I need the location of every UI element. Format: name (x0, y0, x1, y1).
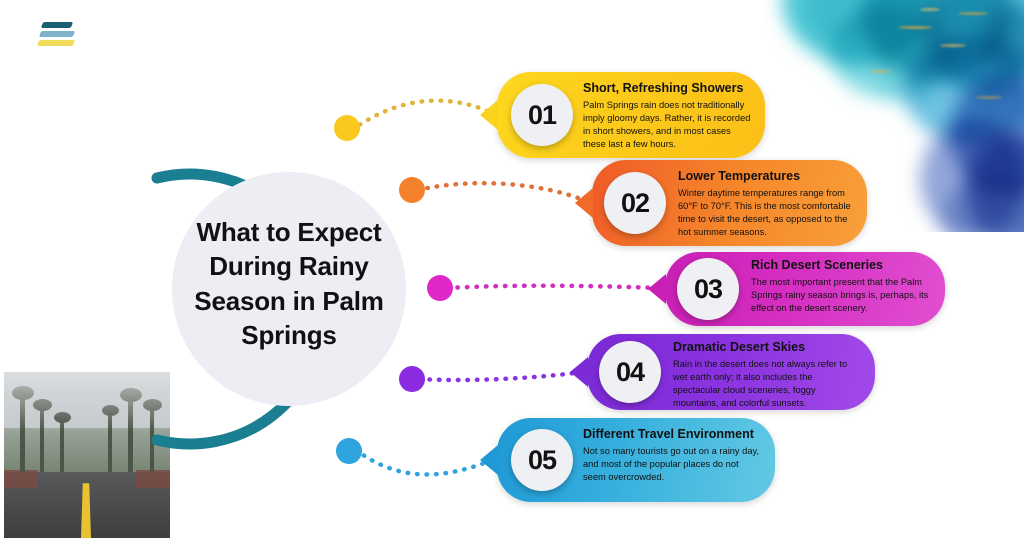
step-card-02[interactable]: 02 Lower Temperatures Winter daytime tem… (592, 160, 867, 246)
card-text-03: The most important present that the Palm… (751, 276, 931, 316)
step-card-04[interactable]: 04 Dramatic Desert Skies Rain in the des… (587, 334, 875, 410)
ring-node-01[interactable] (334, 115, 360, 141)
step-number-02: 02 (604, 172, 666, 234)
infographic-canvas: What to Expect During Rainy Season in Pa… (0, 0, 1024, 538)
step-card-01[interactable]: 01 Short, Refreshing Showers Palm Spring… (497, 72, 765, 158)
page-title-line-2: During Rainy (160, 249, 418, 283)
card-pointer-05 (480, 445, 498, 475)
card-text-01: Palm Springs rain does not traditionally… (583, 99, 751, 152)
connector-04 (420, 372, 582, 380)
connector-02 (418, 183, 586, 201)
connector-03 (448, 286, 660, 288)
page-title-line-4: Springs (160, 318, 418, 352)
card-text-04: Rain in the desert does not always refer… (673, 358, 861, 411)
step-number-05: 05 (511, 429, 573, 491)
step-card-03[interactable]: 03 Rich Desert Sceneries The most import… (665, 252, 945, 326)
ring-node-05[interactable] (336, 438, 362, 464)
card-pointer-01 (480, 100, 498, 130)
step-number-04: 04 (599, 341, 661, 403)
card-body-01: Short, Refreshing Showers Palm Springs r… (583, 81, 751, 149)
card-title-03: Rich Desert Sceneries (751, 258, 931, 274)
connector-05 (356, 450, 492, 475)
card-body-05: Different Travel Environment Not so many… (583, 427, 761, 493)
card-pointer-02 (575, 188, 593, 218)
connector-01 (352, 101, 492, 130)
card-text-02: Winter daytime temperatures range from 6… (678, 187, 853, 240)
step-number-03: 03 (677, 258, 739, 320)
card-title-02: Lower Temperatures (678, 169, 853, 185)
card-title-05: Different Travel Environment (583, 427, 761, 443)
card-body-04: Dramatic Desert Skies Rain in the desert… (673, 340, 861, 404)
page-title-line-1: What to Expect (160, 215, 418, 249)
card-title-04: Dramatic Desert Skies (673, 340, 861, 356)
step-number-01: 01 (511, 84, 573, 146)
step-card-05[interactable]: 05 Different Travel Environment Not so m… (497, 418, 775, 502)
ring-node-02[interactable] (399, 177, 425, 203)
card-body-03: Rich Desert Sceneries The most important… (751, 258, 931, 320)
ring-node-04[interactable] (399, 366, 425, 392)
ring-node-03[interactable] (427, 275, 453, 301)
page-title-line-3: Season in Palm (160, 284, 418, 318)
card-body-02: Lower Temperatures Winter daytime temper… (678, 169, 853, 237)
page-title: What to Expect During Rainy Season in Pa… (160, 215, 418, 352)
card-pointer-03 (648, 274, 666, 304)
card-pointer-04 (570, 357, 588, 387)
card-text-05: Not so many tourists go out on a rainy d… (583, 445, 761, 485)
card-title-01: Short, Refreshing Showers (583, 81, 751, 97)
